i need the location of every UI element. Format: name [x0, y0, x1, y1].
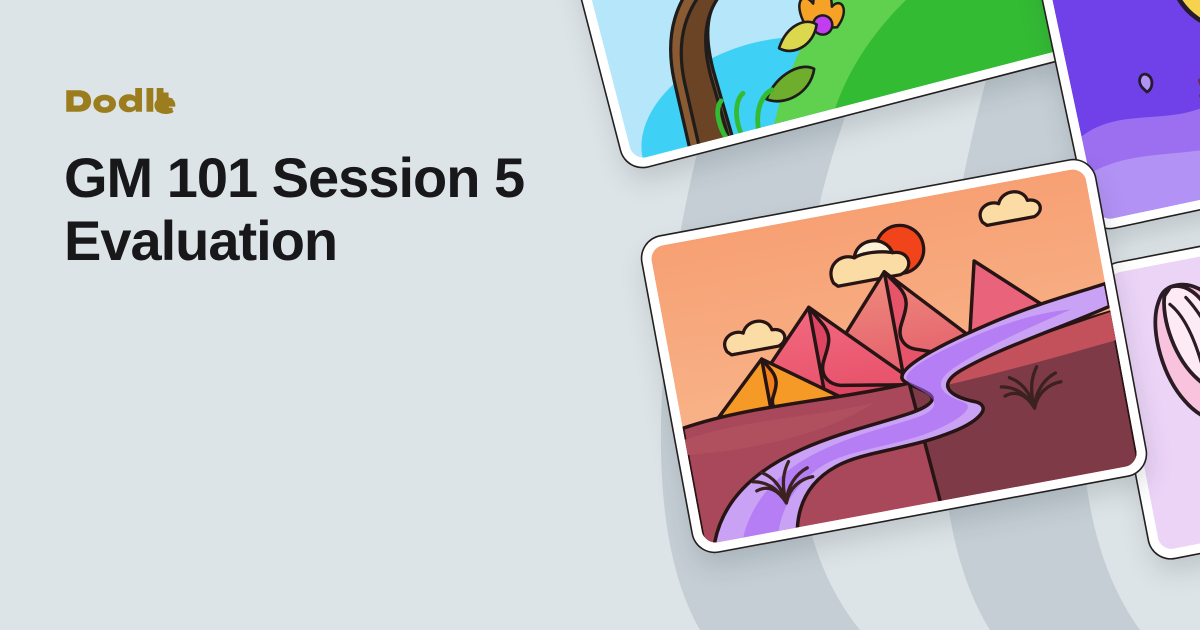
page-title: GM 101 Session 5 Evaluation [64, 146, 604, 273]
og-preview-card: GM 101 Session 5 Evaluation [0, 0, 1200, 630]
padlet-wordmark-logo[interactable] [64, 88, 604, 114]
preview-text-block: GM 101 Session 5 Evaluation [64, 88, 604, 273]
